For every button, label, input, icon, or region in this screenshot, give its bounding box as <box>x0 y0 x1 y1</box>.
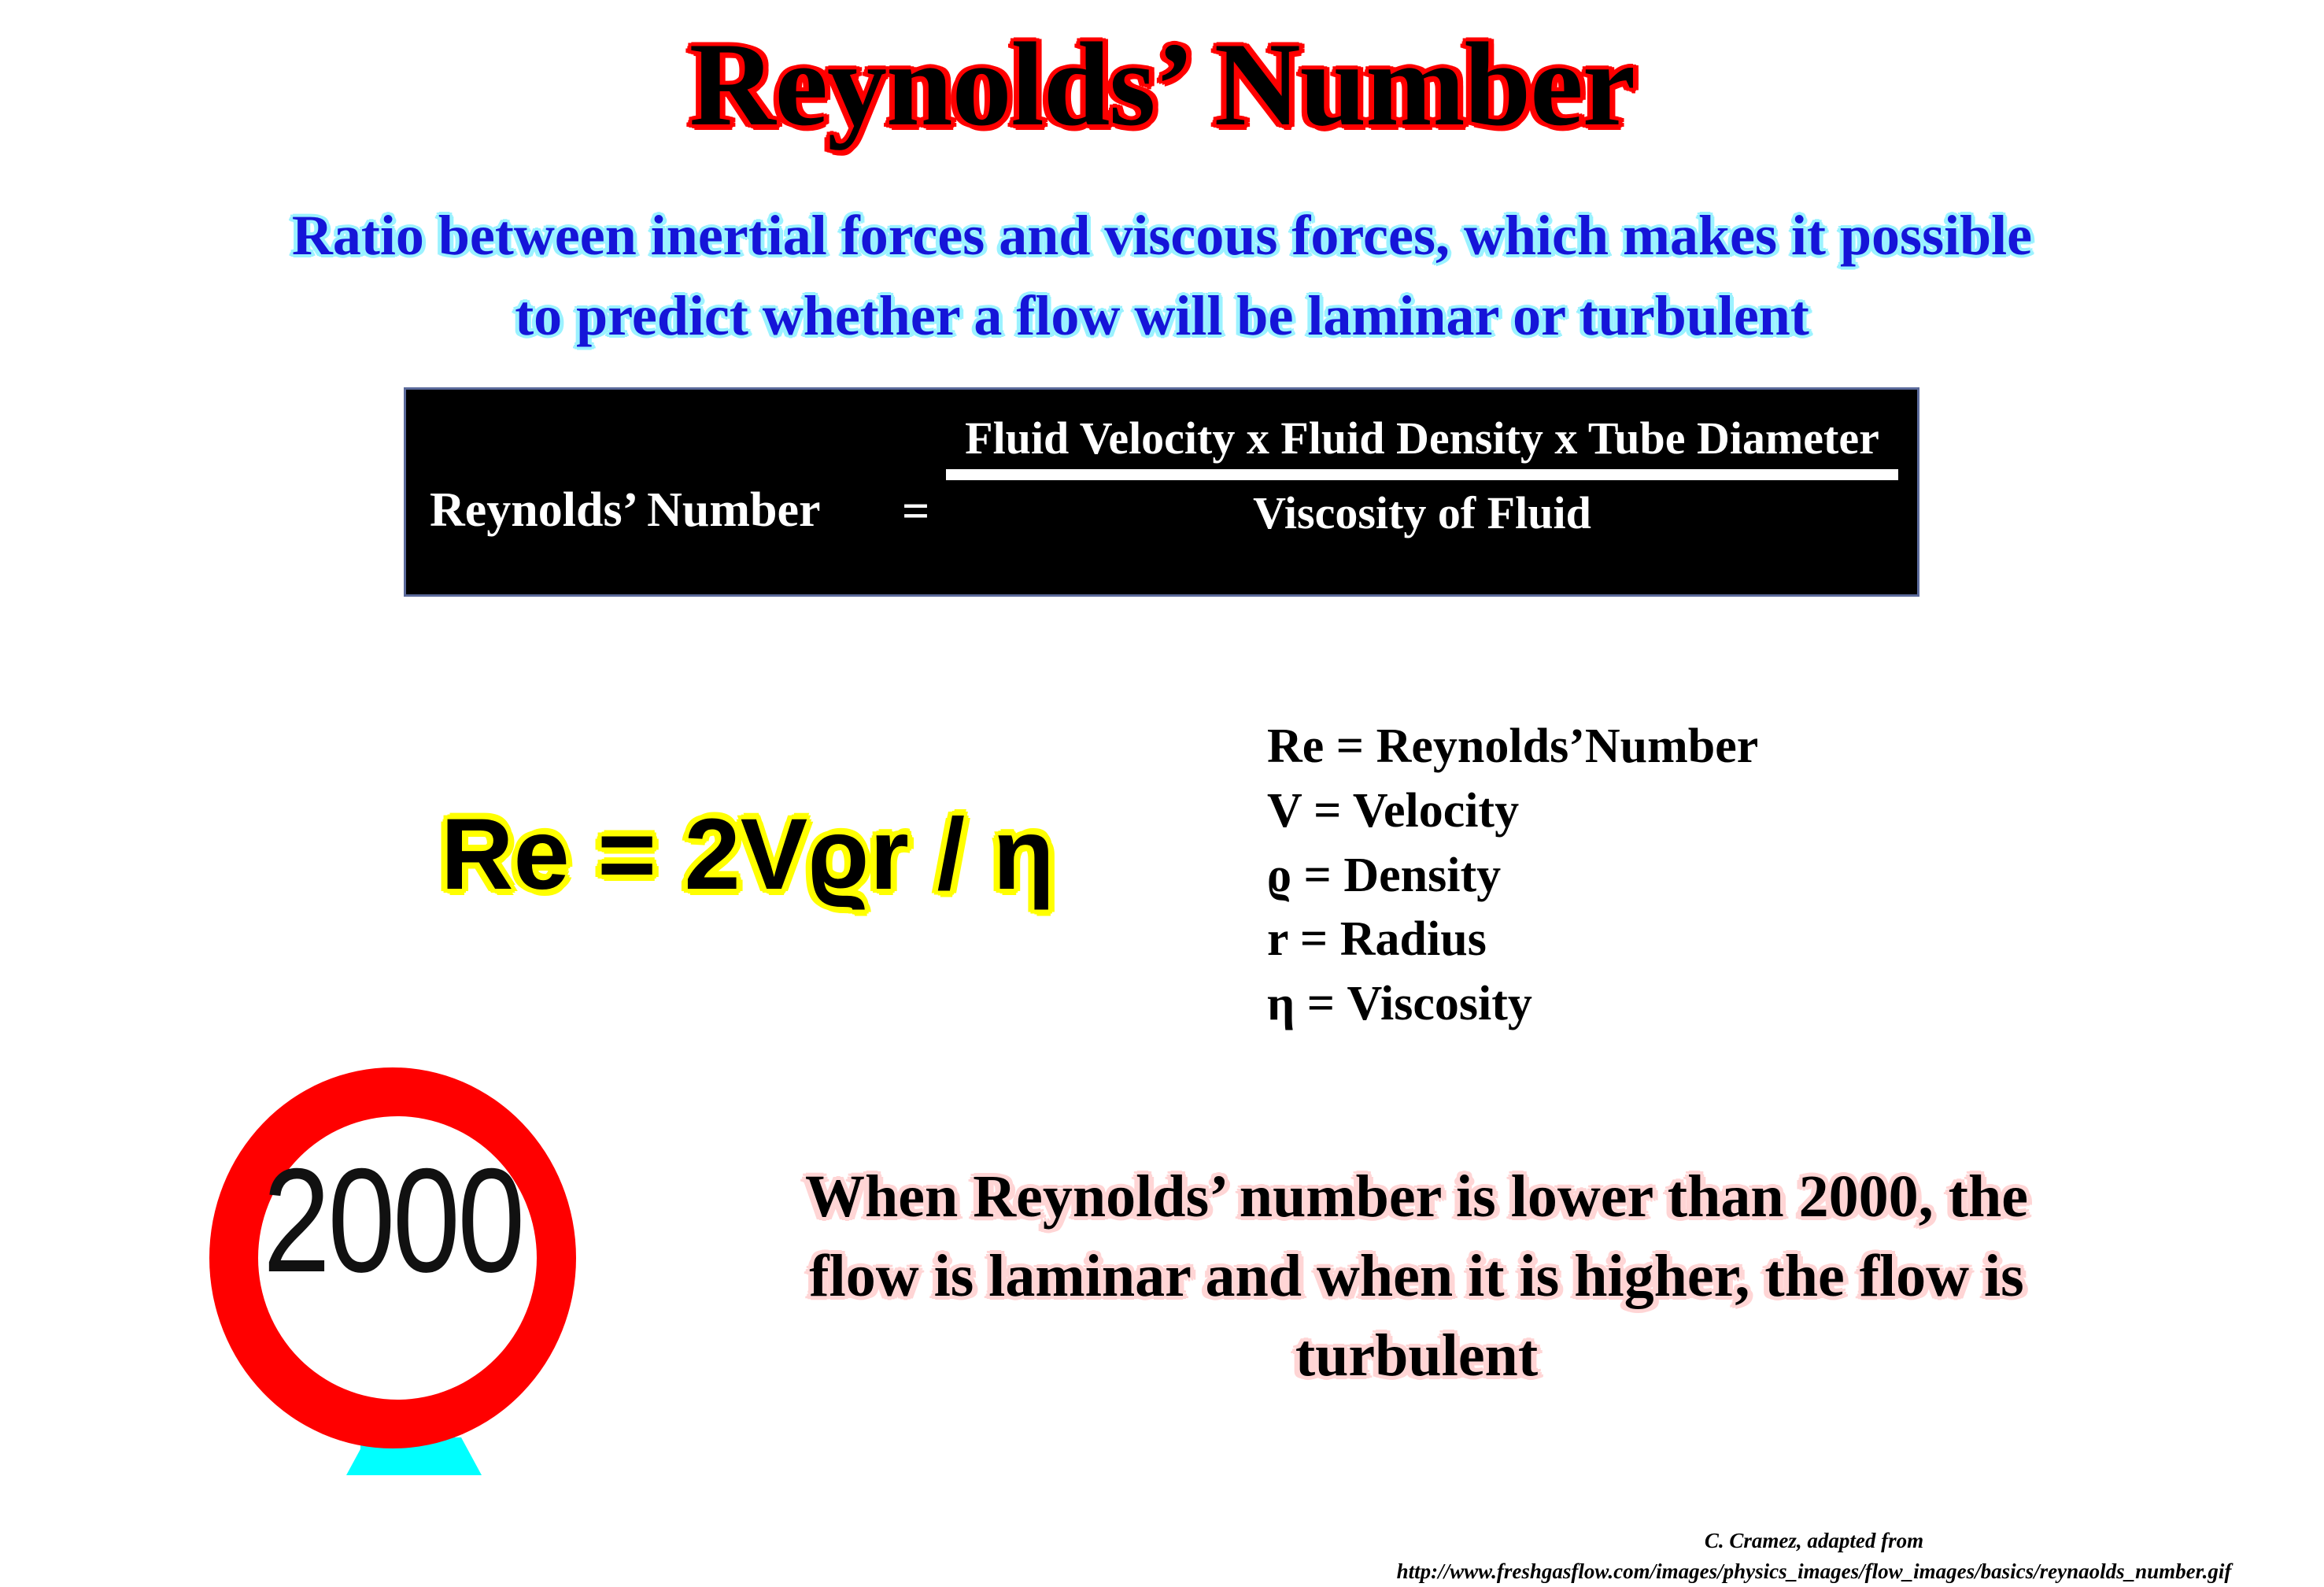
formula-fraction: Fluid Velocity x Fluid Density x Tube Di… <box>946 412 1898 539</box>
sign-threshold-value: 2000 <box>238 1146 547 1294</box>
fraction-numerator: Fluid Velocity x Fluid Density x Tube Di… <box>946 412 1898 464</box>
credit-url: http://www.freshgasflow.com/images/physi… <box>1314 1556 2314 1587</box>
page-subtitle: Ratio between inertial forces and viscou… <box>0 195 2324 356</box>
fraction-bar <box>946 469 1898 480</box>
legend-item-re: Re = Reynolds’Number <box>1267 715 1758 779</box>
symbol-legend: Re = Reynolds’Number V = Velocity ϱ = De… <box>1267 715 1758 1037</box>
subtitle-line-1: Ratio between inertial forces and viscou… <box>0 195 2324 276</box>
credit-author: C. Cramez, adapted from <box>1314 1526 2314 1556</box>
subtitle-line-2: to predict whether a flow will be lamina… <box>0 276 2324 356</box>
legend-item-radius: r = Radius <box>1267 908 1758 972</box>
legend-item-velocity: V = Velocity <box>1267 779 1758 844</box>
note-line-1: When Reynolds’ number is lower than 2000… <box>653 1157 2180 1237</box>
formula-equals-sign: = <box>902 484 929 540</box>
page-title: Reynolds’ Number <box>0 22 2324 148</box>
reynolds-equation: Re = 2Vϱr / η <box>441 797 1055 912</box>
formula-definition-box: Reynolds’ Number = Fluid Velocity x Flui… <box>404 387 1919 597</box>
note-line-3: turbulent <box>653 1316 2180 1396</box>
threshold-description: When Reynolds’ number is lower than 2000… <box>653 1157 2180 1396</box>
fraction-denominator: Viscosity of Fluid <box>946 486 1898 539</box>
legend-item-density: ϱ = Density <box>1267 844 1758 908</box>
legend-item-viscosity: η = Viscosity <box>1267 972 1758 1037</box>
source-credit: C. Cramez, adapted from http://www.fresh… <box>1314 1526 2314 1587</box>
speed-limit-sign-icon: 2000 <box>205 1067 581 1459</box>
formula-left-hand-side: Reynolds’ Number <box>430 483 821 538</box>
note-line-2: flow is laminar and when it is higher, t… <box>653 1237 2180 1316</box>
